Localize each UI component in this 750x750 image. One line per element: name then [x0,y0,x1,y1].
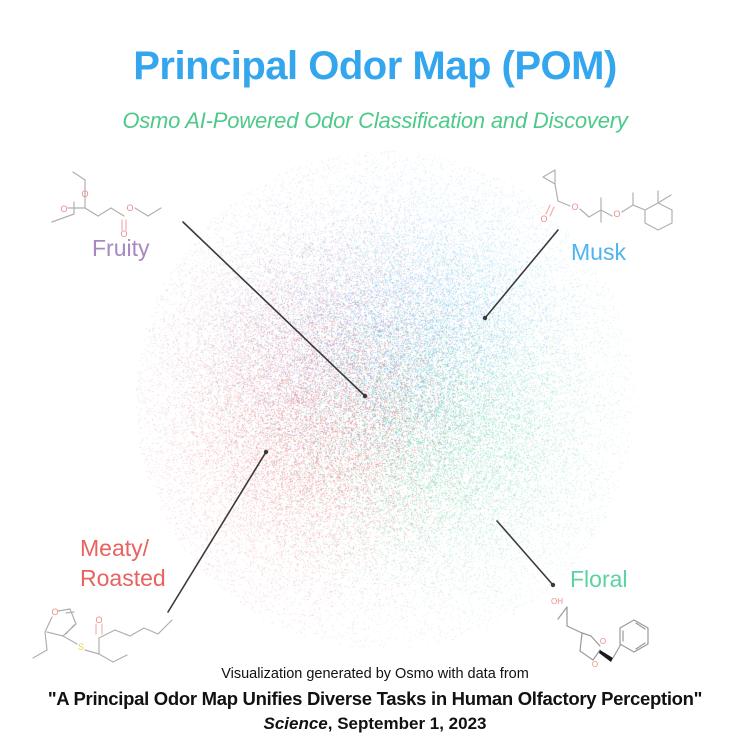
svg-text:O: O [51,607,58,617]
svg-text:O: O [60,204,67,214]
caption-journal-line: Science, September 1, 2023 [0,714,750,734]
cluster-label-fruity: Fruity [92,233,150,263]
svg-text:OH: OH [551,597,563,606]
caption-paper-title: "A Principal Odor Map Unifies Diverse Ta… [0,688,750,710]
molecule-meaty-roasted: O O S [25,592,205,670]
page-subtitle: Osmo AI-Powered Odor Classification and … [0,108,750,134]
cluster-label-meaty-roasted: Meaty/ Roasted [80,533,166,594]
svg-text:O: O [126,203,133,213]
cluster-label-musk: Musk [571,237,626,267]
svg-text:S: S [78,642,84,652]
cluster-label-floral: Floral [570,564,628,594]
molecule-musk: O O O [525,160,710,232]
caption-attribution: Visualization generated by Osmo with dat… [0,666,750,682]
svg-text:O: O [540,214,547,224]
svg-text:O: O [571,202,578,212]
molecule-fruity: O O O O [40,160,190,240]
svg-text:O: O [81,189,88,199]
page-title: Principal Odor Map (POM) [0,44,750,89]
svg-text:O: O [95,615,102,625]
caption-journal-name: Science [263,714,327,733]
poster-root: O O O O O O [0,0,750,750]
svg-text:O: O [600,637,606,646]
caption-journal-date: , September 1, 2023 [328,714,487,733]
svg-text:O: O [613,209,620,219]
